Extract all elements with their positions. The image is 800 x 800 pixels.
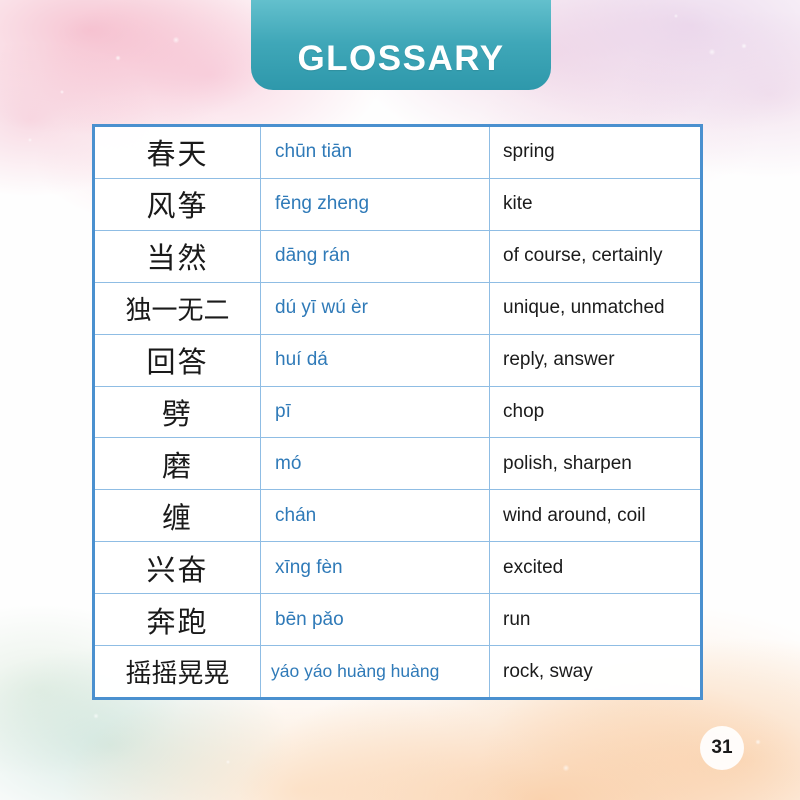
glossary-term-pinyin: dāng rán [261, 231, 490, 282]
glossary-term-pinyin: xīng fèn [261, 542, 490, 593]
glossary-header-banner: GLOSSARY [251, 0, 551, 90]
glossary-term-hanzi: 回答 [95, 335, 261, 386]
table-row: 劈pīchop [95, 387, 700, 439]
glossary-term-hanzi: 春天 [95, 127, 261, 178]
glossary-term-definition: rock, sway [490, 646, 700, 697]
table-row: 回答huí dáreply, answer [95, 335, 700, 387]
table-row: 当然dāng ránof course, certainly [95, 231, 700, 283]
glossary-term-definition: chop [490, 387, 700, 438]
glossary-term-pinyin: chán [261, 490, 490, 541]
glossary-term-hanzi: 兴奋 [95, 542, 261, 593]
glossary-term-definition: kite [490, 179, 700, 230]
glossary-term-pinyin: huí dá [261, 335, 490, 386]
table-row: 风筝fēng zhengkite [95, 179, 700, 231]
table-row: 奔跑bēn pǎorun [95, 594, 700, 646]
glossary-term-pinyin: pī [261, 387, 490, 438]
glossary-term-hanzi: 风筝 [95, 179, 261, 230]
glossary-term-definition: polish, sharpen [490, 438, 700, 489]
glossary-term-definition: of course, certainly [490, 231, 700, 282]
page-number-badge: 31 [700, 726, 744, 770]
glossary-term-hanzi: 奔跑 [95, 594, 261, 645]
glossary-term-definition: excited [490, 542, 700, 593]
table-row: 摇摇晃晃yáo yáo huàng huàngrock, sway [95, 646, 700, 697]
table-row: 缠chánwind around, coil [95, 490, 700, 542]
glossary-term-pinyin: dú yī wú èr [261, 283, 490, 334]
table-row: 磨mópolish, sharpen [95, 438, 700, 490]
table-row: 兴奋xīng fènexcited [95, 542, 700, 594]
glossary-term-definition: spring [490, 127, 700, 178]
glossary-term-hanzi: 磨 [95, 438, 261, 489]
glossary-term-definition: wind around, coil [490, 490, 700, 541]
glossary-term-hanzi: 独一无二 [95, 283, 261, 334]
glossary-term-pinyin: mó [261, 438, 490, 489]
glossary-term-pinyin: yáo yáo huàng huàng [261, 646, 490, 697]
glossary-term-definition: run [490, 594, 700, 645]
glossary-term-pinyin: fēng zheng [261, 179, 490, 230]
table-row: 独一无二dú yī wú èrunique, unmatched [95, 283, 700, 335]
glossary-term-hanzi: 缠 [95, 490, 261, 541]
glossary-term-definition: unique, unmatched [490, 283, 700, 334]
page-title: GLOSSARY [297, 41, 504, 76]
glossary-term-pinyin: bēn pǎo [261, 594, 490, 645]
glossary-table: 春天chūn tiānspring风筝fēng zhengkite当然dāng … [92, 124, 703, 700]
glossary-term-hanzi: 劈 [95, 387, 261, 438]
glossary-term-pinyin: chūn tiān [261, 127, 490, 178]
glossary-page: GLOSSARY 春天chūn tiānspring风筝fēng zhengki… [0, 0, 800, 800]
glossary-term-definition: reply, answer [490, 335, 700, 386]
glossary-term-hanzi: 当然 [95, 231, 261, 282]
page-number-text: 31 [711, 737, 732, 759]
table-row: 春天chūn tiānspring [95, 127, 700, 179]
glossary-term-hanzi: 摇摇晃晃 [95, 646, 261, 697]
